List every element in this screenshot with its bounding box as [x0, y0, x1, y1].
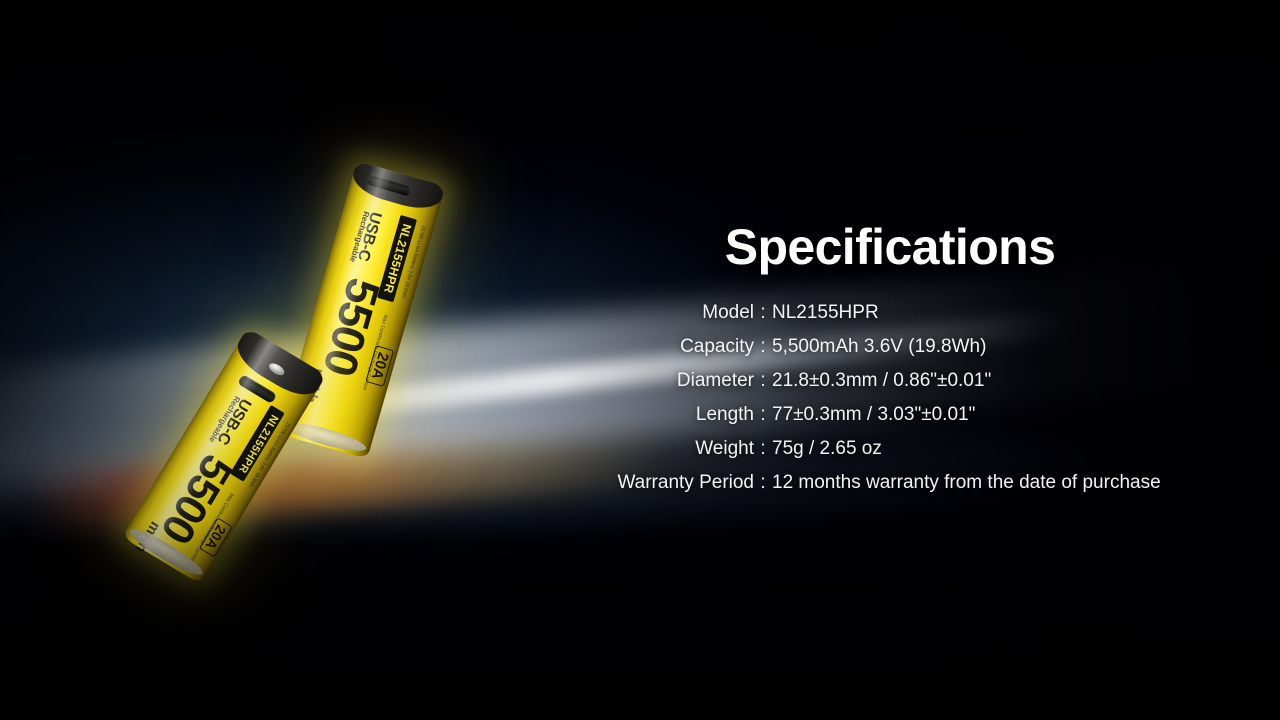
spec-row-capacity: Capacity : 5,500mAh 3.6V (19.8Wh): [560, 336, 1220, 358]
spec-label-capacity: Capacity: [560, 336, 754, 358]
spec-separator: :: [754, 438, 772, 460]
spec-label-warranty-period: Warranty Period: [560, 472, 754, 494]
usb-c-port-icon: [367, 174, 412, 197]
battery-upper-usbc-label: USB-C: [354, 210, 383, 263]
spec-separator: :: [754, 370, 772, 392]
spec-separator: :: [754, 302, 772, 324]
spec-label-model: Model: [560, 302, 754, 324]
battery-lower-usbc-label: USB-C: [213, 395, 253, 447]
spec-value-diameter: 21.8±0.3mm / 0.86"±0.01": [772, 370, 991, 392]
spec-value-model: NL2155HPR: [772, 302, 879, 324]
battery-upper-spec-text: 21700 Li-ion Battery 3.6V 19.8Wh: [400, 225, 425, 299]
positive-terminal-icon: [267, 361, 286, 377]
spec-row-diameter: Diameter : 21.8±0.3mm / 0.86"±0.01": [560, 370, 1220, 392]
battery-lower-capacity-value: 5500: [153, 447, 239, 550]
spec-label-weight: Weight: [560, 438, 754, 460]
battery-upper-top-cap: [349, 161, 446, 215]
spec-value-length: 77±0.3mm / 3.03"±0.01": [772, 404, 975, 426]
battery-lower-discharge-value: 20A: [199, 517, 233, 557]
spec-row-weight: Weight : 75g / 2.65 oz: [560, 438, 1220, 460]
spec-separator: :: [754, 336, 772, 358]
spec-row-length: Length : 77±0.3mm / 3.03"±0.01": [560, 404, 1220, 426]
spec-value-warranty-period: 12 months warranty from the date of purc…: [772, 472, 1161, 494]
specifications-list: Model : NL2155HPR Capacity : 5,500mAh 3.…: [560, 302, 1220, 494]
battery-lower-discharge-label: Max Continuous Discharge Current: [189, 492, 234, 562]
battery-upper-capacity-value: 5500: [316, 273, 387, 380]
specifications-panel: Specifications Model : NL2155HPR Capacit…: [560, 218, 1220, 506]
battery-upper-rechargeable-label: Rechargeable: [348, 210, 370, 263]
battery-upper-discharge-label: Max Continuous Discharge Current: [361, 314, 387, 390]
spec-row-model: Model : NL2155HPR: [560, 302, 1220, 324]
battery-lower-rechargeable-label: Rechargeable: [207, 394, 241, 443]
spec-separator: :: [754, 472, 772, 494]
product-spec-banner: NL2155HPR USB-C Rechargeable 5500 mAh 21…: [0, 0, 1280, 720]
spec-separator: :: [754, 404, 772, 426]
page-title: Specifications: [560, 218, 1220, 276]
spec-label-diameter: Diameter: [560, 370, 754, 392]
spec-value-weight: 75g / 2.65 oz: [772, 438, 882, 460]
spec-label-length: Length: [560, 404, 754, 426]
battery-upper-model-label: NL2155HPR: [377, 215, 417, 302]
spec-row-warranty-period: Warranty Period : 12 months warranty fro…: [560, 472, 1220, 494]
spec-value-capacity: 5,500mAh 3.6V (19.8Wh): [772, 336, 986, 358]
battery-lower-negative-terminal: [126, 523, 207, 580]
